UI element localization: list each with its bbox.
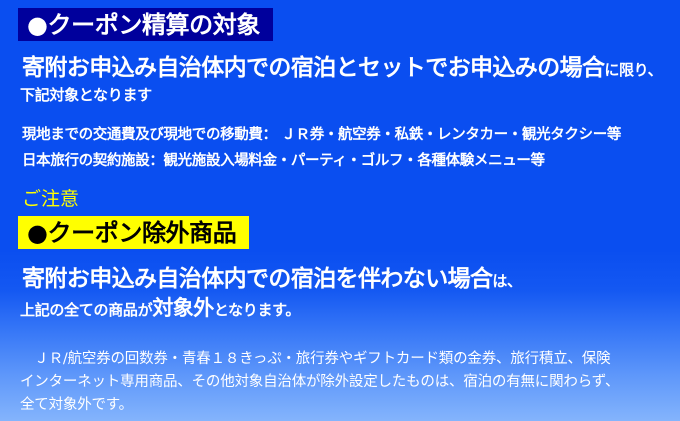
excluded-headline: 寄附お申込み自治体内での宿泊を伴わない場合は、 [22, 268, 522, 291]
caution-label: ご注意 [22, 190, 79, 209]
excluded-fineprint-line-3: 全て対象外です。 [20, 398, 133, 413]
included-headline-tail: に限り、 [604, 61, 662, 79]
excluded-fineprint-line-1: ＪＲ/航空券の回数券・青春１８きっぷ・旅行券やギフトカード類の金券、旅行積立、保… [20, 352, 610, 367]
excluded-headline-main: 寄附お申込み自治体内での宿泊を伴わない場合 [22, 266, 492, 292]
excluded-subline-suffix: となります。 [214, 301, 300, 319]
included-headline: 寄附お申込み自治体内での宿泊とセットでお申込みの場合に限り、 [22, 57, 662, 80]
excluded-section-chip: ●クーポン除外商品 [18, 216, 249, 249]
included-headline-second-line: 下記対象となります [20, 88, 152, 103]
included-section-chip: ●クーポン精算の対象 [18, 8, 273, 41]
coupon-eligibility-banner: ●クーポン精算の対象 寄附お申込み自治体内での宿泊とセットでお申込みの場合に限り… [0, 0, 680, 421]
included-detail-line-1: 現地までの交通費及び現地での移動費： ＪＲ券・航空券・私鉄・レンタカー・観光タク… [22, 128, 621, 143]
excluded-subline-emphasis: 対象外 [152, 296, 214, 320]
excluded-fineprint-line-2: インターネット専用商品、その他対象自治体が除外設定したものは、宿泊の有無に関わら… [20, 375, 619, 390]
included-detail-line-2: 日本旅行の契約施設：観光施設入場料金・パーティ・ゴルフ・各種体験メニュー等 [22, 154, 545, 169]
excluded-subline-prefix: 上記の全ての商品が [20, 301, 152, 319]
included-headline-main: 寄附お申込み自治体内での宿泊とセットでお申込みの場合 [22, 55, 604, 81]
excluded-subline: 上記の全ての商品が対象外となります。 [20, 298, 300, 319]
excluded-headline-tail: は、 [492, 272, 521, 290]
